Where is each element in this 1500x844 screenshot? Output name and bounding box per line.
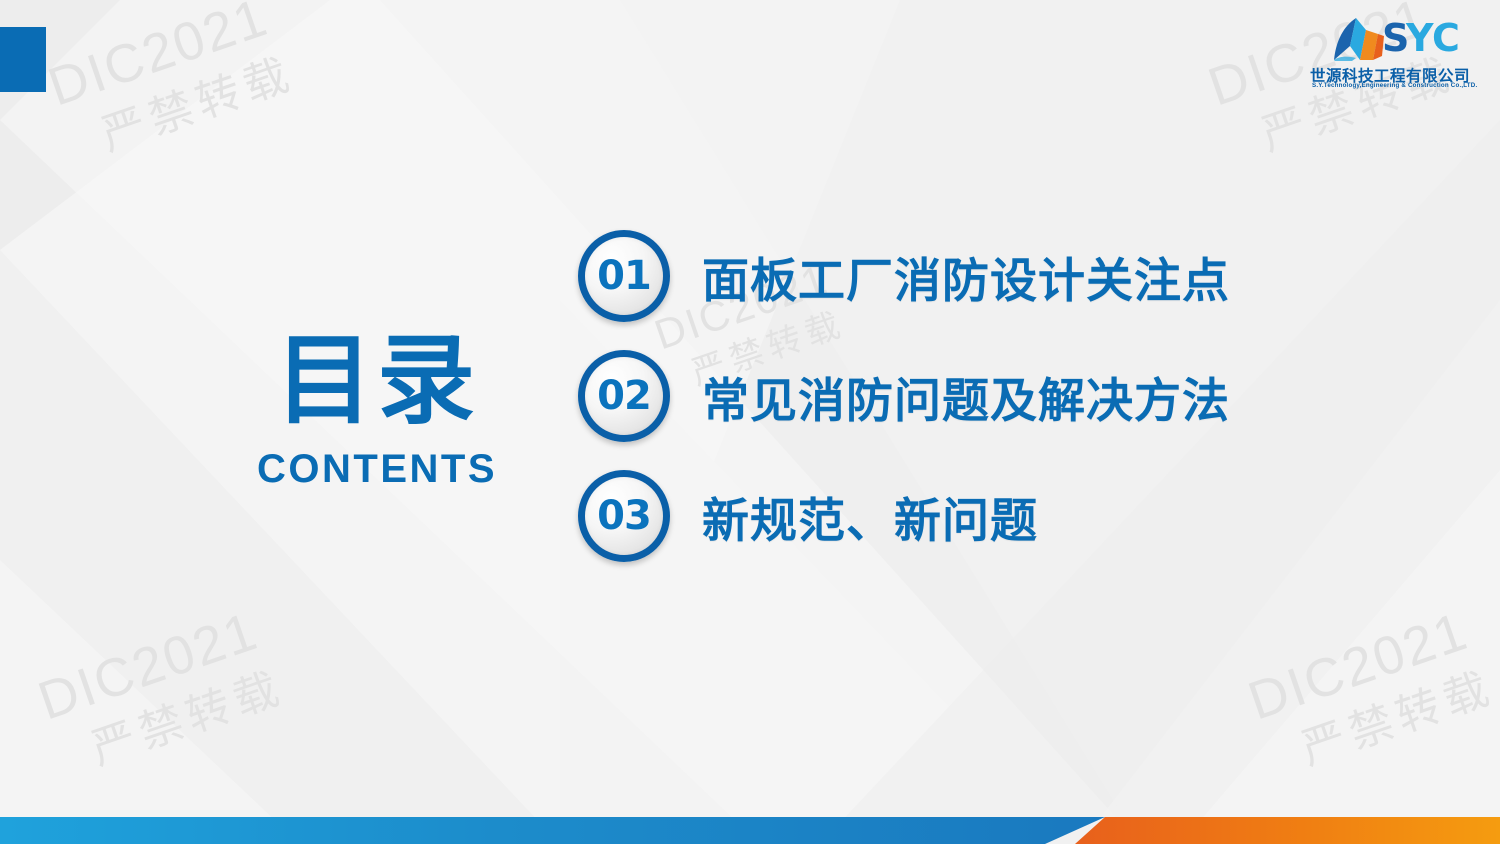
contents-number: 03: [597, 493, 651, 539]
svg-text:C: C: [1432, 18, 1460, 60]
presentation-slide: DIC2021 严禁转载 DIC2021 严禁转载 DIC2021 严禁转载 D…: [0, 0, 1500, 844]
contents-number: 01: [597, 253, 651, 299]
contents-label: 常见消防问题及解决方法: [702, 362, 1230, 431]
contents-number: 02: [597, 373, 651, 419]
contents-badge-02: 02: [578, 350, 670, 442]
corner-accent-block: [0, 27, 46, 92]
contents-item-01[interactable]: 01 面板工厂消防设计关注点: [578, 228, 1230, 324]
contents-badge-01: 01: [578, 230, 670, 322]
page-title: 目录: [232, 330, 522, 433]
company-logo: S Y C 世源科技工程有限公司 S.Y.Technology,Engineer…: [1306, 16, 1478, 92]
syc-logo-mark-icon: [1326, 16, 1388, 62]
contents-list: 01 面板工厂消防设计关注点 02 常见消防问题及解决方法 03 新规范、新问题: [578, 228, 1230, 588]
contents-label: 面板工厂消防设计关注点: [702, 242, 1230, 311]
syc-wordmark-icon: S Y C: [1382, 18, 1474, 60]
contents-item-02[interactable]: 02 常见消防问题及解决方法: [578, 348, 1230, 444]
bottom-accent-bar: [0, 817, 1500, 844]
contents-label: 新规范、新问题: [702, 482, 1038, 551]
page-title-block: 目录 CONTENTS: [232, 330, 522, 492]
logo-company-name-en: S.Y.Technology,Engineering & Constructio…: [1312, 82, 1477, 89]
page-subtitle: CONTENTS: [232, 447, 522, 492]
contents-item-03[interactable]: 03 新规范、新问题: [578, 468, 1230, 564]
contents-badge-03: 03: [578, 470, 670, 562]
svg-text:Y: Y: [1405, 18, 1434, 60]
